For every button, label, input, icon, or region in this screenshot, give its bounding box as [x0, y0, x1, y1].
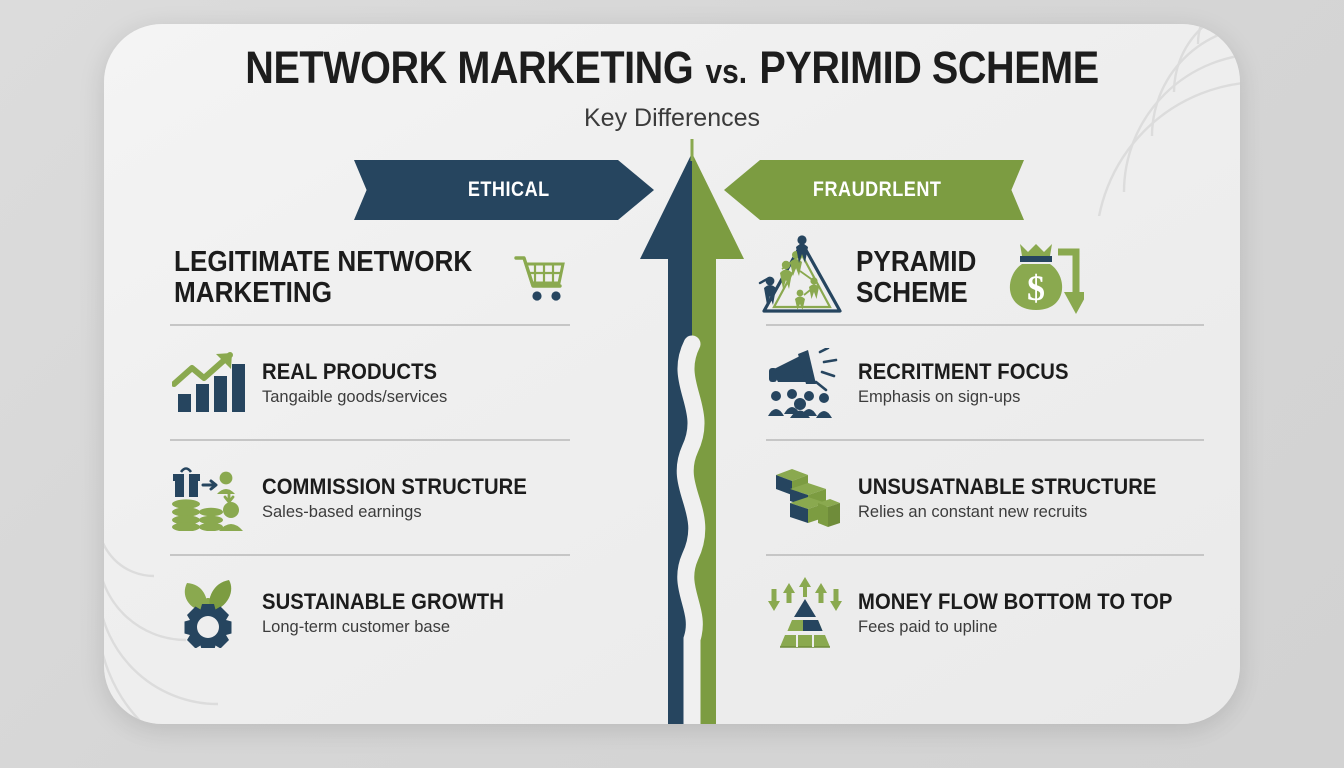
list-item-title: SUSTAINABLE GROWTH — [262, 589, 504, 615]
shopping-cart-icon — [513, 252, 569, 304]
title-vs: vs. — [706, 53, 748, 91]
column-left-heading: LEGITIMATE NETWORK MARKETING — [170, 232, 590, 324]
list-item-subtitle: Emphasis on sign-ups — [858, 388, 1087, 407]
pyramid-people-icon — [756, 235, 848, 321]
list-item: RECRITMENT FOCUS Emphasis on sign-ups — [766, 326, 1174, 439]
bar-chart-growth-icon — [170, 344, 248, 422]
megaphone-crowd-icon — [766, 344, 844, 422]
money-bag-down-arrow-icon: $ — [998, 238, 1084, 318]
list-item-subtitle: Fees paid to upline — [858, 618, 1200, 637]
list-item-title: COMMISSION STRUCTURE — [262, 474, 527, 500]
column-legitimate-network-marketing: LEGITIMATE NETWORK MARKETING — [170, 232, 590, 669]
column-left-heading-text: LEGITIMATE NETWORK MARKETING — [174, 247, 472, 308]
sprout-gear-icon — [170, 574, 248, 652]
banner-ethical: ETHICAL — [354, 160, 654, 220]
list-item: REAL PRODUCTS Tangaible goods/services — [170, 326, 590, 439]
list-item-subtitle: Relies an constant new recruits — [858, 503, 1182, 522]
list-item-title: MONEY FLOW BOTTOM TO TOP — [858, 589, 1172, 615]
center-split-up-arrow — [632, 139, 752, 724]
infographic-card: NETWORK MARKETINGvs.PYRIMID SCHEME Key D… — [104, 24, 1240, 724]
list-item-subtitle: Sales-based earnings — [262, 503, 550, 522]
page-title: NETWORK MARKETINGvs.PYRIMID SCHEME — [172, 42, 1172, 94]
list-item: COMMISSION STRUCTURE Sales-based earning… — [170, 441, 590, 554]
title-part-two: PYRIMID SCHEME — [759, 42, 1098, 93]
banner-ethical-label: ETHICAL — [468, 178, 550, 202]
column-right-heading: PYRAMID SCHEME $ — [754, 232, 1174, 324]
list-item: MONEY FLOW BOTTOM TO TOP Fees paid to up… — [766, 556, 1174, 669]
page-subtitle: Key Differences — [104, 104, 1240, 133]
banner-fraudulent-label: FRAUDRLENT — [813, 178, 942, 202]
column-pyramid-scheme: PYRAMID SCHEME $ — [754, 232, 1174, 669]
pyramid-arrows-icon — [766, 574, 844, 652]
title-part-one: NETWORK MARKETING — [245, 42, 693, 93]
list-item: SUSTAINABLE GROWTH Long-term customer ba… — [170, 556, 590, 669]
stacked-blocks-icon — [766, 459, 844, 537]
banner-fraudulent: FRAUDRLENT — [724, 160, 1024, 220]
column-right-heading-text: PYRAMID SCHEME — [856, 247, 976, 308]
list-item-title: REAL PRODUCTS — [262, 359, 437, 385]
list-item-subtitle: Tangaible goods/services — [262, 388, 452, 407]
center-arrow-left-half — [632, 139, 692, 724]
svg-text:$: $ — [1027, 268, 1045, 308]
list-item-title: RECRITMENT FOCUS — [858, 359, 1069, 385]
list-item-title: UNSUSATNABLE STRUCTURE — [858, 474, 1157, 500]
infographic-canvas: NETWORK MARKETINGvs.PYRIMID SCHEME Key D… — [0, 0, 1344, 768]
list-item: UNSUSATNABLE STRUCTURE Relies an constan… — [766, 441, 1174, 554]
gift-coins-people-icon — [170, 459, 248, 537]
list-item-subtitle: Long-term customer base — [262, 618, 525, 637]
center-arrow-stem — [691, 139, 694, 161]
